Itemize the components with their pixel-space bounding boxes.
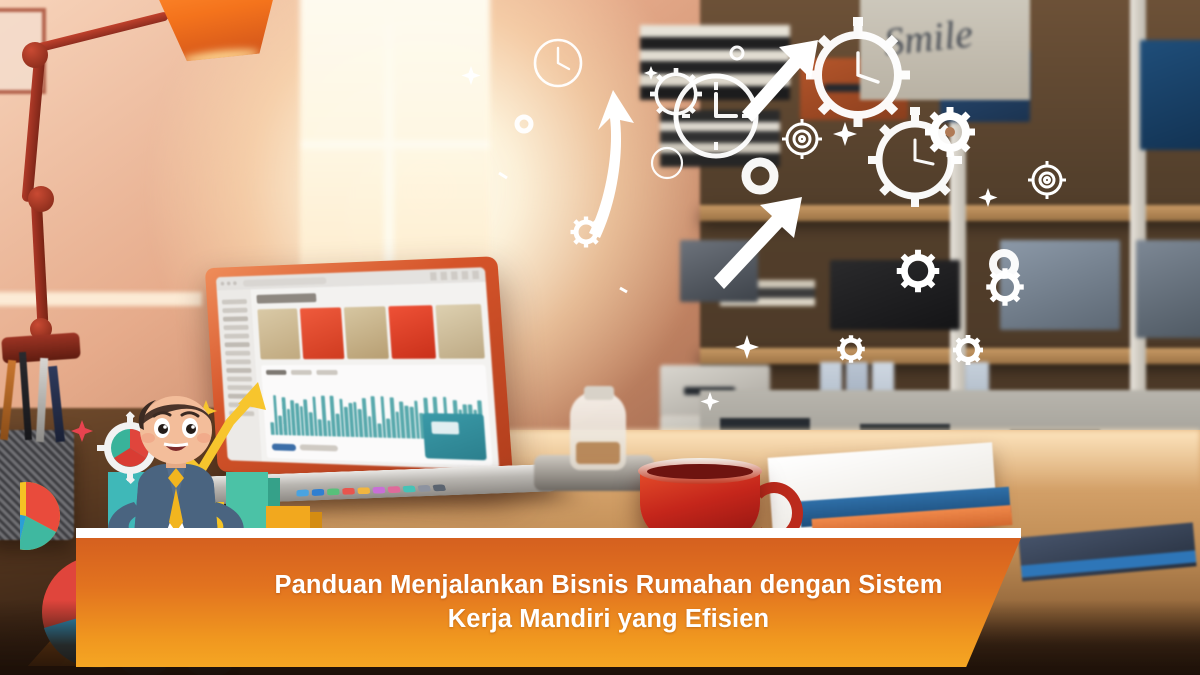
lamp-arm <box>31 11 169 54</box>
poster-root: Smile <box>0 0 1200 675</box>
address-bar <box>243 277 327 287</box>
dashboard-title <box>256 293 316 303</box>
maps-icon[interactable] <box>402 486 415 493</box>
lamp-arm <box>31 195 49 325</box>
dashboard-cards <box>257 304 485 359</box>
lamp-shade <box>142 0 290 65</box>
mug-rim <box>638 458 762 484</box>
glass-jar <box>570 392 626 470</box>
notes-icon[interactable] <box>357 487 370 494</box>
trash-icon[interactable] <box>432 484 446 491</box>
lamp-joint <box>22 42 48 68</box>
bar <box>377 423 382 437</box>
jar-lid <box>584 386 614 400</box>
music-icon[interactable] <box>387 486 400 493</box>
lamp-arm <box>21 52 45 202</box>
title-banner: Panduan Menjalankan Bisnis Rumahan denga… <box>0 528 1200 675</box>
photos-icon[interactable] <box>372 487 385 494</box>
banner-top-stripe <box>76 528 1021 538</box>
lamp-joint <box>28 186 54 212</box>
banner-body: Panduan Menjalankan Bisnis Rumahan denga… <box>76 538 1021 667</box>
banner-title: Panduan Menjalankan Bisnis Rumahan denga… <box>95 569 1003 636</box>
banner-title-line2: Kerja Mandiri yang Efisien <box>275 603 943 637</box>
sparkle-icon <box>71 420 93 442</box>
banner-title-line1: Panduan Menjalankan Bisnis Rumahan denga… <box>275 571 943 599</box>
window-controls <box>221 281 237 285</box>
chart-tabs <box>266 370 481 375</box>
toolbar-icons <box>430 271 479 281</box>
calendar-icon[interactable] <box>342 488 355 495</box>
settings-icon[interactable] <box>417 485 431 492</box>
kpi-card <box>422 413 487 460</box>
